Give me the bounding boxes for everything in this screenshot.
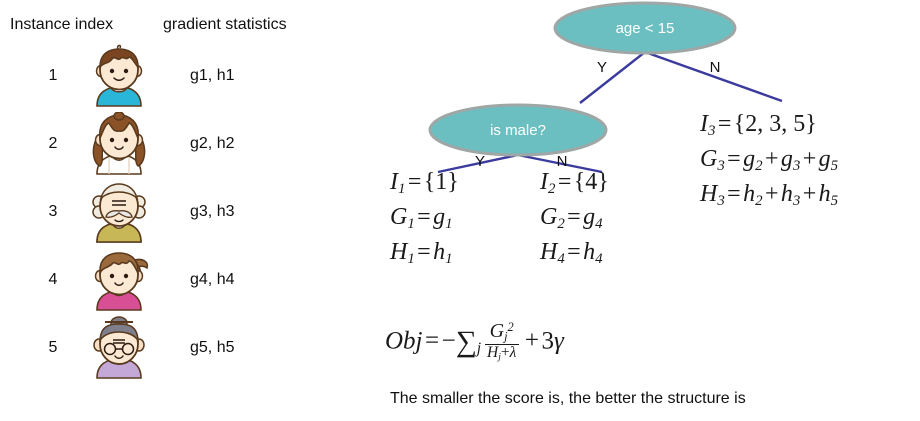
leaf-left-line-G: G1=g1: [390, 205, 459, 240]
old-woman-gray-bun-lavender-shirt-avatar: [85, 316, 153, 380]
row-index-label: 2: [40, 110, 66, 178]
obj-fraction: Gj2Hj+λ: [485, 321, 519, 362]
column-header-instance-index: Instance index: [10, 16, 113, 34]
old-man-mustache-olive-shirt-avatar: [85, 180, 153, 244]
leaf-stats-right: I3={2, 3, 5} G3=g2+g3+g5 H3=h2+h3+h5: [700, 112, 838, 217]
leaf-right-line-H: H3=h2+h3+h5: [700, 182, 838, 217]
tree-node-root-label: age < 15: [616, 20, 675, 37]
gradient-statistic-value: g2, h2: [190, 110, 310, 178]
summation-icon: ∑: [456, 326, 477, 358]
gradient-statistic-value: g5, h5: [190, 314, 310, 382]
sym-H: H: [700, 181, 717, 207]
leaf-mid-line-I: I2={4}: [540, 170, 609, 205]
caption-text: The smaller the score is, the better the…: [390, 390, 746, 408]
leaf-mid-line-H: H4=h4: [540, 240, 609, 275]
leaf-stats-middle: I2={4} G2=g4 H4=h4: [540, 170, 609, 275]
table-row: 2 g2, h2: [0, 110, 330, 178]
column-header-gradient-statistics: gradient statistics: [163, 16, 287, 34]
sym-I: I: [540, 169, 548, 195]
obj-gamma: γ: [554, 327, 564, 354]
slide-canvas: Instance index gradient statistics 1: [0, 0, 920, 421]
gradient-statistic-value: g3, h3: [190, 178, 310, 246]
obj-sigma-index: j: [477, 340, 481, 357]
sym-G: G: [390, 204, 407, 230]
objective-formula: Obj=−∑jGj2Hj+λ+3γ: [385, 322, 564, 363]
obj-name: Obj: [385, 327, 423, 354]
table-row: 3 g3, h3: [0, 178, 330, 246]
leaf-left-line-H: H1=h1: [390, 240, 459, 275]
edge-label-child-yes: Y: [475, 153, 485, 170]
obj-coefficient: 3: [541, 327, 554, 354]
edge-label-child-no: N: [557, 153, 568, 170]
sym-G: G: [540, 204, 557, 230]
row-index-label: 5: [40, 314, 66, 382]
row-index-label: 3: [40, 178, 66, 246]
sym-H: H: [390, 239, 407, 265]
table-row: 5 g5, h5: [0, 314, 330, 382]
edge-root-yes: [580, 52, 645, 103]
leaf-left-line-I: I1={1}: [390, 170, 459, 205]
obj-equals: =: [423, 327, 442, 354]
obj-numerator: Gj2: [485, 321, 519, 344]
leaf-right-line-G: G3=g2+g3+g5: [700, 147, 838, 182]
girl-ponytail-pink-shirt-avatar: [85, 248, 153, 312]
sym-I: I: [390, 169, 398, 195]
leaf-right-line-I: I3={2, 3, 5}: [700, 112, 838, 147]
sym-G: G: [700, 146, 717, 172]
leaf-mid-line-G: G2=g4: [540, 205, 609, 240]
gradient-statistic-value: g4, h4: [190, 246, 310, 314]
row-index-label: 4: [40, 246, 66, 314]
boy-brown-hair-teal-shirt-avatar: [85, 44, 153, 108]
edge-label-root-yes: Y: [597, 59, 607, 76]
row-index-label: 1: [40, 42, 66, 110]
sym-I: I: [700, 111, 708, 137]
obj-plus: +: [522, 327, 541, 354]
leaf-stats-left: I1={1} G1=g1 H1=h1: [390, 170, 459, 275]
obj-minus: −: [442, 327, 456, 354]
sym-H: H: [540, 239, 557, 265]
tree-node-is-male-label: is male?: [490, 122, 546, 139]
girl-brown-braids-white-dress-avatar: [85, 112, 153, 176]
table-row: 1 g1, h1: [0, 42, 330, 110]
obj-denominator: Hj+λ: [485, 344, 519, 363]
edge-label-root-no: N: [710, 59, 721, 76]
gradient-statistic-value: g1, h1: [190, 42, 310, 110]
table-row: 4 g4, h4: [0, 246, 330, 314]
